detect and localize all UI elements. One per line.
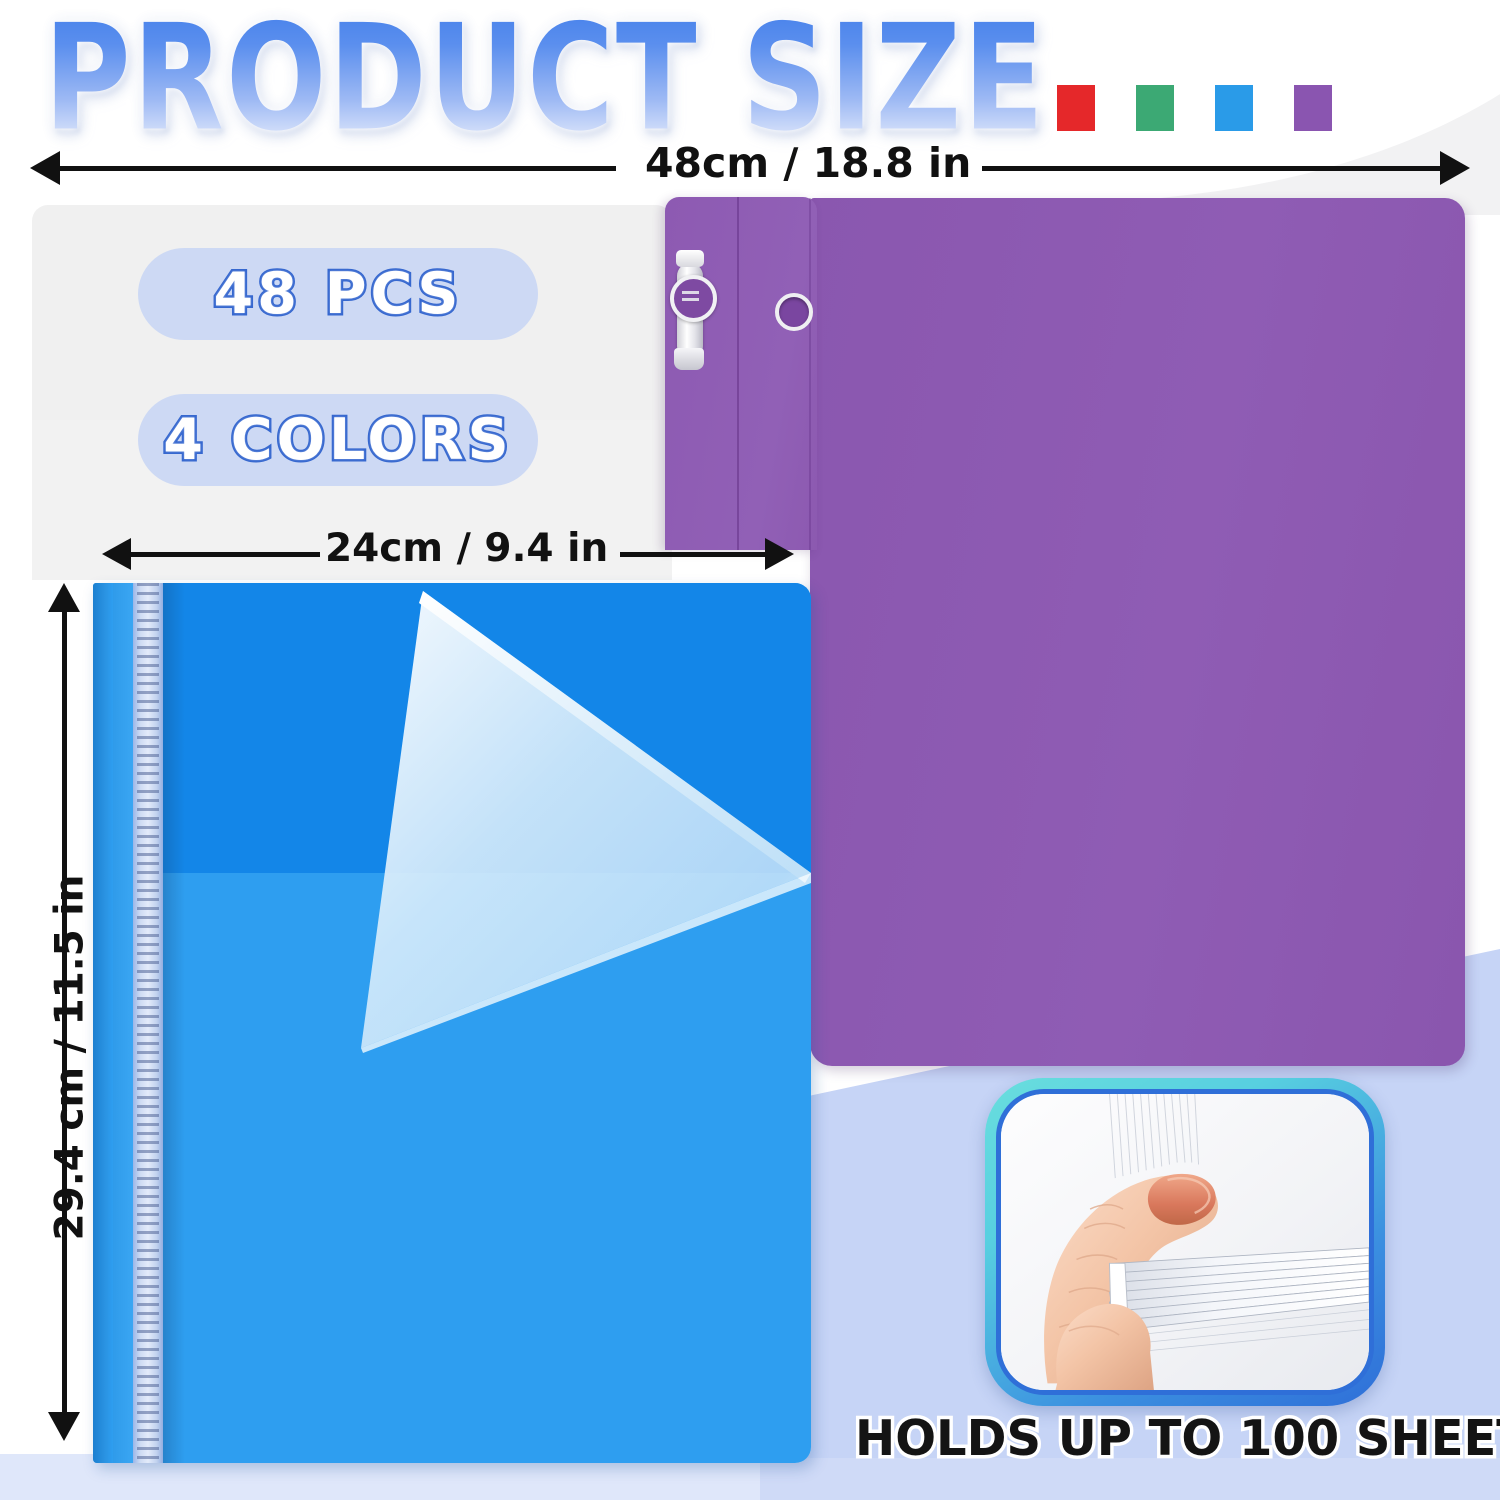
dim-overall-line-left [56, 166, 616, 171]
folder-blue-left-edge-inner [113, 583, 133, 1463]
badge-colors-label: 4 COLORS [163, 407, 512, 473]
dim-width-line-left [128, 552, 320, 557]
dim-width-label: 24cm / 9.4 in [325, 526, 608, 571]
dim-overall-line-right [982, 166, 1452, 171]
badge-quantity: 48 PCS [138, 248, 538, 340]
dim-height-label: 29.4 cm / 11.5 in [48, 848, 93, 1268]
punch-hole-icon [775, 293, 813, 331]
badge-quantity-label: 48 PCS [214, 261, 463, 327]
dim-width-arrow-left-icon [102, 538, 131, 570]
color-swatch-red [1057, 85, 1095, 131]
slide-binder-ring-icon [670, 275, 717, 322]
feature-photo [996, 1089, 1374, 1395]
folder-blue-left-edge [93, 583, 113, 1463]
folder-purple-body [810, 198, 1465, 1066]
slide-binder-clip-tab [676, 250, 704, 267]
dim-overall-arrow-right-icon [1440, 151, 1470, 185]
slide-binder-clip-foot [674, 348, 704, 370]
infographic-canvas: PRODUCT SIZE [0, 0, 1500, 1500]
dim-height-arrow-bottom-icon [48, 1412, 80, 1441]
dim-overall-label: 48cm / 18.8 in [645, 139, 971, 187]
folder-purple-fold-line [737, 197, 739, 550]
dim-height-arrow-top-icon [48, 583, 80, 612]
dim-width-arrow-right-icon [765, 538, 794, 570]
color-swatch-blue [1215, 85, 1253, 131]
folder-blue-spine-ribs [137, 583, 159, 1463]
folder-blue-spine-shadow [163, 583, 185, 1463]
badge-colors: 4 COLORS [138, 394, 538, 486]
folder-blue-body [93, 583, 811, 1463]
color-swatch-purple [1294, 85, 1332, 131]
color-swatch-list [1057, 85, 1332, 131]
dim-overall-arrow-left-icon [30, 151, 60, 185]
folder-purple-fold-line-2 [809, 198, 811, 550]
dim-width-line-right [620, 552, 774, 557]
feature-caption: HOLDS UP TO 100 SHEETS [855, 1410, 1500, 1467]
transparent-cover-flap [93, 583, 811, 1463]
feature-photo-frame [985, 1078, 1385, 1406]
color-swatch-green [1136, 85, 1174, 131]
